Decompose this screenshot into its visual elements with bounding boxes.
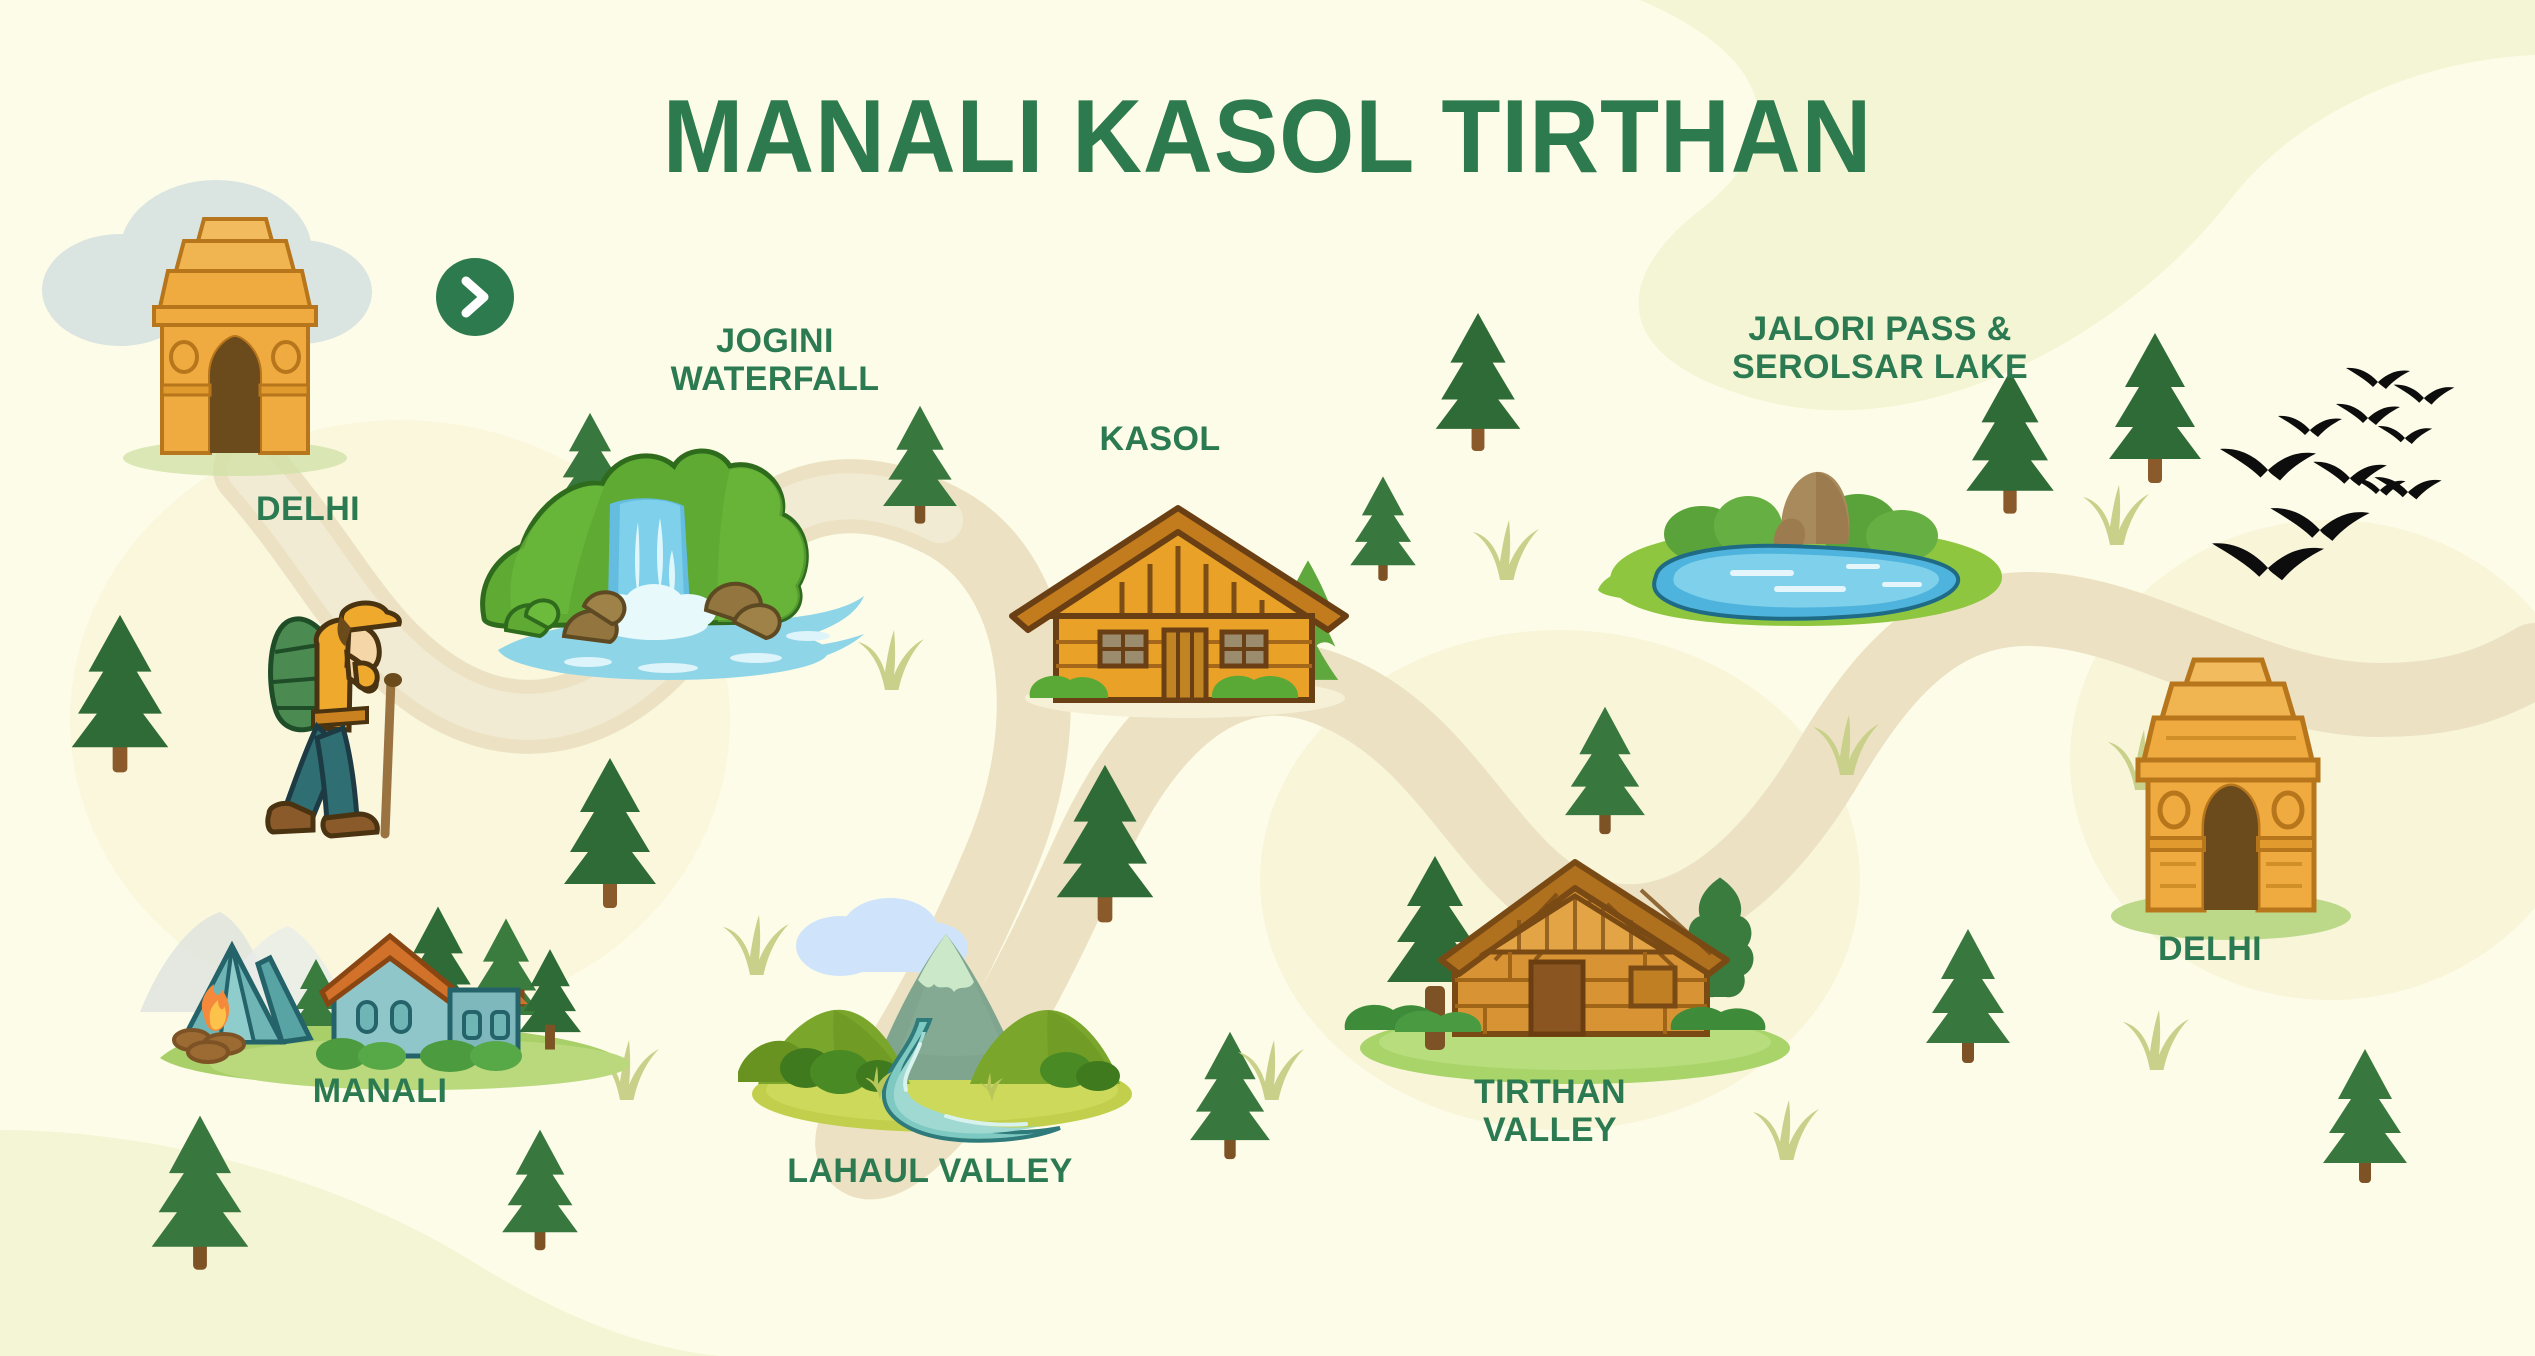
next-button[interactable]: [436, 258, 514, 336]
stop-label-manali: MANALI: [230, 1072, 530, 1110]
wooden-cabin-icon: [1010, 490, 1360, 720]
india-gate-icon: [2096, 620, 2366, 940]
lake-icon: [1590, 440, 2020, 640]
stop-label-jalori: JALORI PASS & SEROLSAR LAKE: [1580, 310, 2180, 386]
stop-label-delhi-end: DELHI: [2100, 930, 2320, 968]
waterfall-icon: [468, 400, 868, 700]
page-title: MANALI KASOL TIRTHAN: [89, 78, 2447, 197]
stop-label-jogini: JOGINI WATERFALL: [600, 322, 950, 398]
india-gate-icon: [110, 175, 360, 475]
stop-label-lahaul: LAHAUL VALLEY: [680, 1152, 1180, 1190]
illustration-canvas: MANALI KASOL TIRTHAN DELHI: [0, 0, 2535, 1356]
mountain-river-icon: [730, 900, 1150, 1160]
stop-label-kasol: KASOL: [1010, 420, 1310, 458]
stop-label-tirthan: TIRTHAN VALLEY: [1385, 1073, 1715, 1149]
hiker-icon: [255, 582, 445, 852]
stop-label-delhi-start: DELHI: [198, 490, 418, 528]
log-cabin-icon: [1335, 820, 1785, 1100]
chevron-right-icon: [458, 277, 492, 317]
